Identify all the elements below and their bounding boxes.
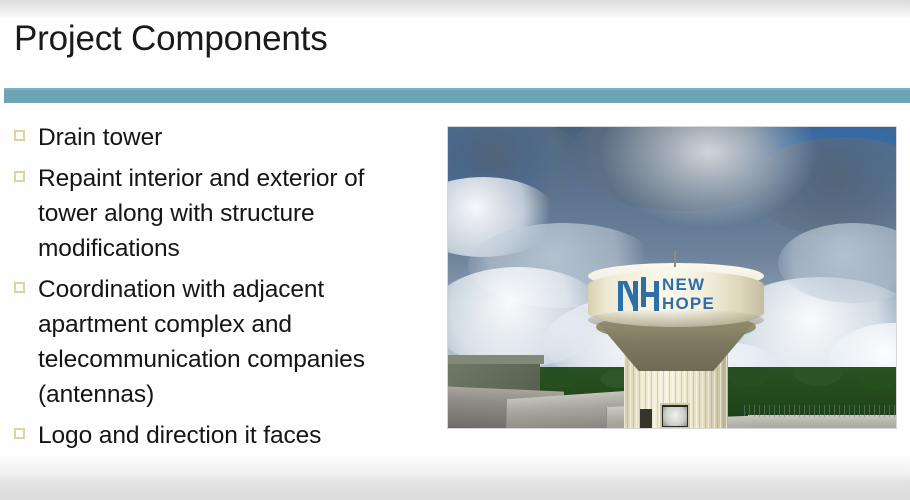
list-item-label: Coordination with adjacent apartment com…	[38, 272, 418, 412]
accent-divider-band	[4, 88, 910, 103]
tower-mast	[674, 251, 676, 267]
square-bullet-icon	[14, 130, 25, 141]
square-bullet-icon	[14, 282, 25, 293]
far-building-roof	[448, 355, 544, 364]
tower-access-door-panel	[663, 407, 687, 426]
square-bullet-icon	[14, 428, 25, 439]
fence	[744, 405, 896, 417]
tower-side-opening	[640, 409, 652, 428]
square-bullet-icon	[14, 171, 25, 182]
page-title: Project Components	[14, 19, 328, 59]
list-item: Repaint interior and exterior of tower a…	[14, 161, 418, 266]
list-item: Logo and direction it faces	[14, 418, 418, 453]
water-tower-photo: NEW HOPE	[448, 127, 896, 428]
list-item-label: Drain tower	[38, 120, 162, 155]
slide-bottom-shading	[0, 456, 910, 500]
bullet-list: Drain tower Repaint interior and exterio…	[14, 120, 418, 453]
list-item-label: Repaint interior and exterior of tower a…	[38, 161, 418, 266]
slide-canvas: Project Components Drain tower Repaint i…	[0, 0, 910, 500]
list-item-label: Logo and direction it faces	[38, 418, 321, 453]
list-item: Drain tower	[14, 120, 418, 155]
tower-text-line-1: NEW	[662, 275, 705, 295]
slide-top-shading	[0, 0, 910, 18]
accent-divider-highlight	[4, 88, 910, 90]
tower-text-line-2: HOPE	[662, 294, 715, 314]
list-item: Coordination with adjacent apartment com…	[14, 272, 418, 412]
nh-monogram-icon	[616, 277, 660, 315]
